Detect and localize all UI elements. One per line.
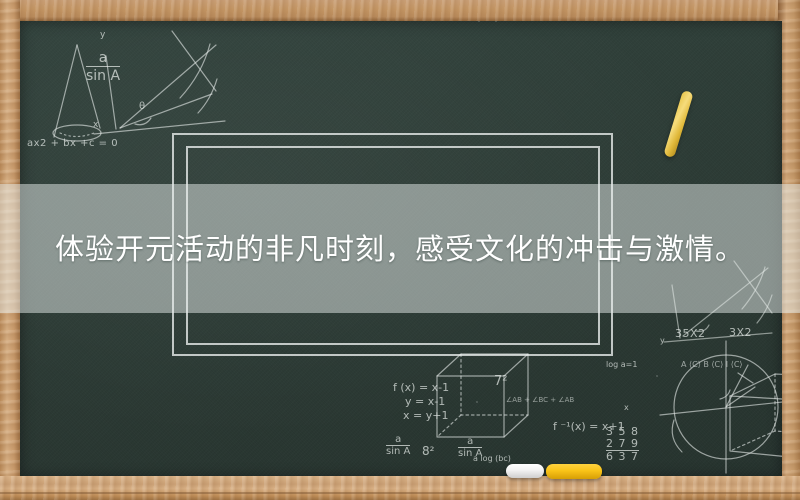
frame-rail-top (0, 0, 800, 22)
white-chalk-icon (506, 464, 544, 478)
chalk-ledge (0, 476, 800, 500)
headline-text: 体验开元活动的非凡时刻，感受文化的冲击与激情。 (0, 232, 800, 267)
ledge-lip (0, 492, 800, 494)
blackboard-banner: a sin A y x θ ax2 + bx +c = 0 f (x) = x-… (0, 0, 800, 500)
yellow-chalk-icon (546, 464, 602, 479)
